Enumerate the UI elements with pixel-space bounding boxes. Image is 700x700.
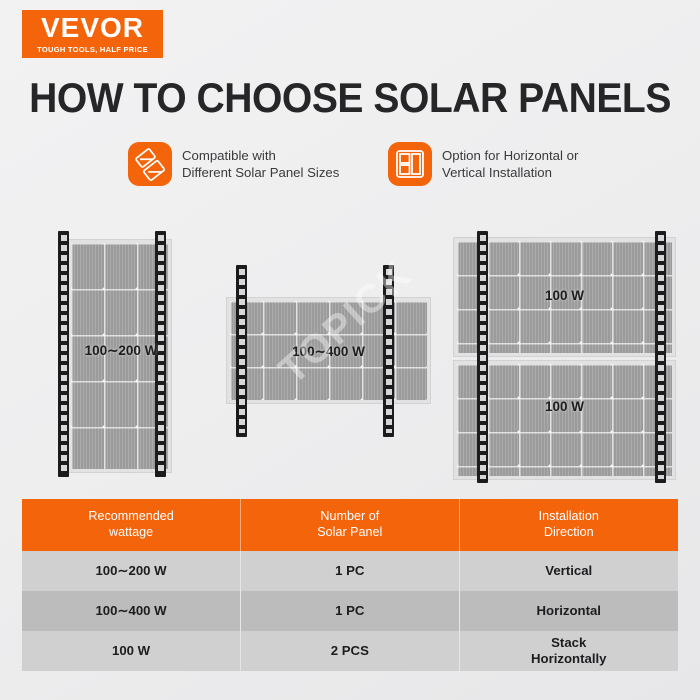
table-header-cell-wattage: Recommended wattage <box>22 499 241 551</box>
feature-line-2: Vertical Installation <box>442 164 578 181</box>
table-row: 100∼400 W 1 PC Horizontal <box>22 591 678 631</box>
panel-cell-dots <box>457 364 672 476</box>
table-header: Recommended wattage Number of Solar Pane… <box>22 499 678 551</box>
page-title: HOW TO CHOOSE SOLAR PANELS <box>25 74 676 122</box>
wattage-label-stack-bottom: 100 W <box>456 399 673 414</box>
feature-line-2: Different Solar Panel Sizes <box>182 164 339 181</box>
infographic-page: VEVOR TOUGH TOOLS, HALF PRICE HOW TO CHO… <box>0 0 700 700</box>
table-header-row: Recommended wattage Number of Solar Pane… <box>22 499 678 551</box>
direction-line-1: Stack <box>531 635 606 652</box>
vevor-logo: VEVOR TOUGH TOOLS, HALF PRICE <box>22 10 163 58</box>
cell-count: 2 PCS <box>241 631 459 671</box>
wattage-label-stack-top: 100 W <box>456 288 673 303</box>
cell-direction: Vertical <box>460 551 678 591</box>
table-header-cell-count: Number of Solar Panel <box>241 499 459 551</box>
feature-line-1: Option for Horizontal or <box>442 147 578 164</box>
cell-direction: Stack Horizontally <box>460 631 678 671</box>
specification-table: Recommended wattage Number of Solar Pane… <box>22 499 678 671</box>
table-body: 100∼200 W 1 PC Vertical 100∼400 W 1 PC H… <box>22 551 678 671</box>
table-row: 100∼200 W 1 PC Vertical <box>22 551 678 591</box>
cell-count: 1 PC <box>241 591 459 631</box>
cell-wattage: 100∼200 W <box>22 551 241 591</box>
direction-line-1: Horizontal <box>537 603 601 620</box>
table-header-cell-direction: Installation Direction <box>460 499 678 551</box>
mounting-rail-right <box>655 231 666 483</box>
header-line-1: Number of <box>317 509 382 525</box>
header-line-1: Installation <box>539 509 599 525</box>
header-line-1: Recommended <box>88 509 173 525</box>
feature-label-panel-sizes: Compatible with Different Solar Panel Si… <box>182 147 339 182</box>
mounting-rail-left <box>58 231 69 477</box>
brand-name: VEVOR <box>41 14 144 42</box>
header-line-2: Direction <box>539 525 599 541</box>
wattage-label-vertical: 100∼200 W <box>73 343 169 359</box>
feature-item-orientation: Option for Horizontal or Vertical Instal… <box>388 142 578 186</box>
cell-wattage: 100 W <box>22 631 241 671</box>
brand-tagline: TOUGH TOOLS, HALF PRICE <box>37 45 148 54</box>
feature-item-panel-sizes: Compatible with Different Solar Panel Si… <box>128 142 339 186</box>
direction-line-2: Horizontally <box>531 651 606 668</box>
wattage-label-horizontal: 100∼400 W <box>230 344 427 360</box>
feature-label-orientation: Option for Horizontal or Vertical Instal… <box>442 147 578 182</box>
header-line-2: Solar Panel <box>317 525 382 541</box>
table-row: 100 W 2 PCS Stack Horizontally <box>22 631 678 671</box>
header-line-2: wattage <box>88 525 173 541</box>
installation-orientation-icon <box>388 142 432 186</box>
cell-direction: Horizontal <box>460 591 678 631</box>
cell-wattage: 100∼400 W <box>22 591 241 631</box>
solar-panel-sizes-icon <box>128 142 172 186</box>
mounting-rail-left <box>477 231 488 483</box>
cell-count: 1 PC <box>241 551 459 591</box>
feature-line-1: Compatible with <box>182 147 339 164</box>
direction-line-1: Vertical <box>545 563 592 580</box>
